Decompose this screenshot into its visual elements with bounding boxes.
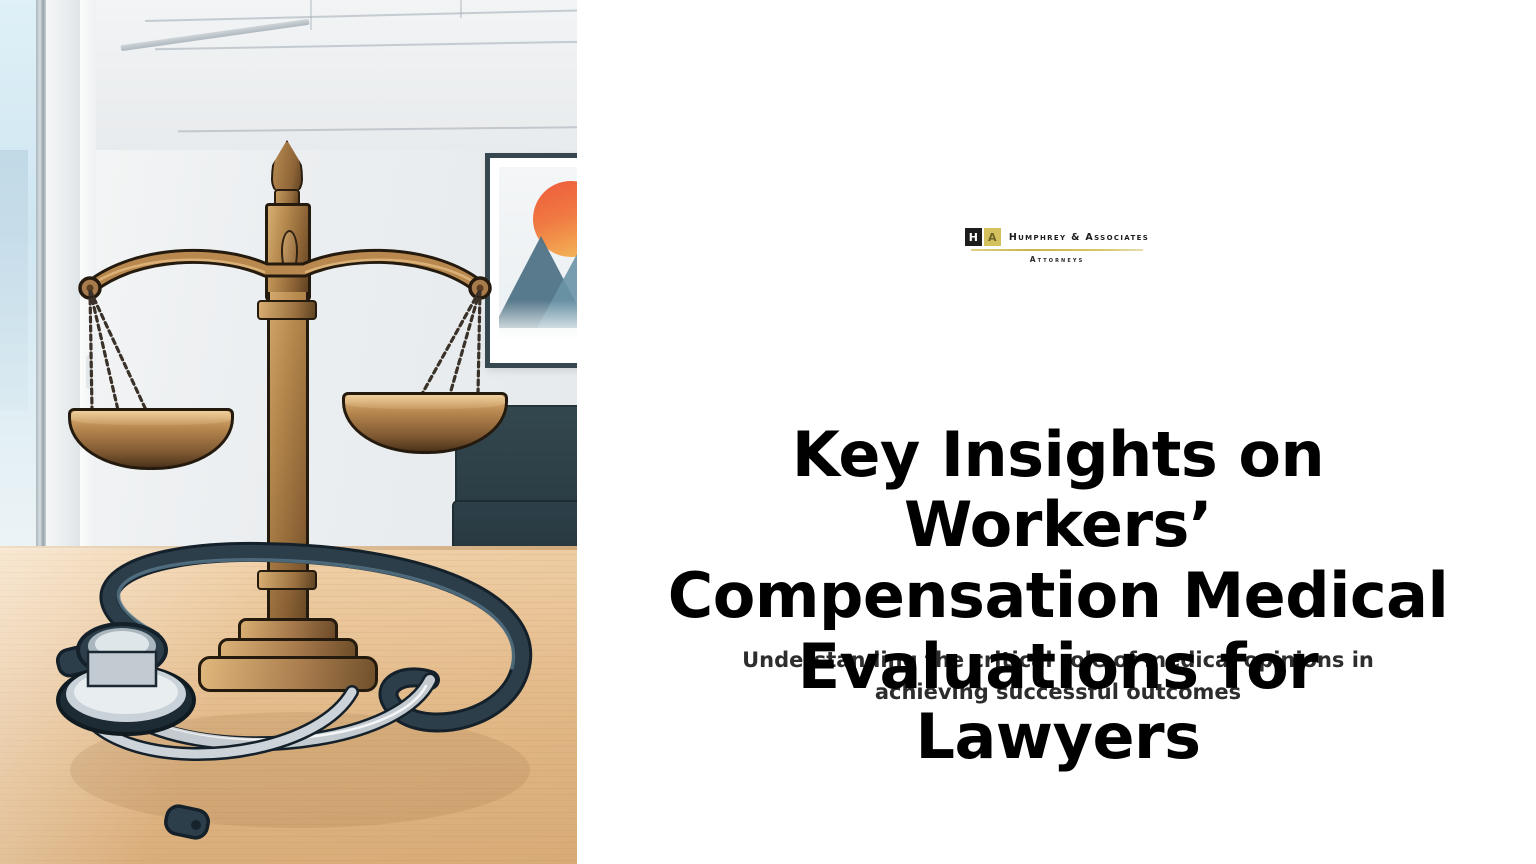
scale-pan-left: [68, 408, 234, 470]
ceiling: [60, 0, 577, 150]
logo-primary-row: H A Humphrey & Associates: [965, 228, 1149, 246]
window-mullion: [36, 0, 46, 564]
sky: [0, 150, 28, 410]
logo-monogram-icon: H A: [965, 228, 1001, 246]
logo-divider: [971, 249, 1143, 251]
office-scene: [0, 0, 577, 864]
art-mist: [499, 300, 577, 354]
slide: H A Humphrey & Associates Attorneys Unde…: [0, 0, 1536, 864]
hero-illustration: [0, 0, 577, 864]
logo-letter-h: H: [965, 228, 982, 246]
content-panel: H A Humphrey & Associates Attorneys Unde…: [577, 0, 1536, 864]
stethoscope-icon: [0, 530, 577, 864]
brand-logo: H A Humphrey & Associates Attorneys: [964, 228, 1150, 264]
logo-letter-a: A: [984, 228, 1001, 246]
logo-firm-name: Humphrey & Associates: [1004, 232, 1149, 243]
scale-pan-right: [342, 392, 508, 454]
logo-tagline: Attorneys: [1030, 255, 1085, 264]
slide-title: Key Insights on Workers’ Compensation Me…: [652, 420, 1464, 773]
